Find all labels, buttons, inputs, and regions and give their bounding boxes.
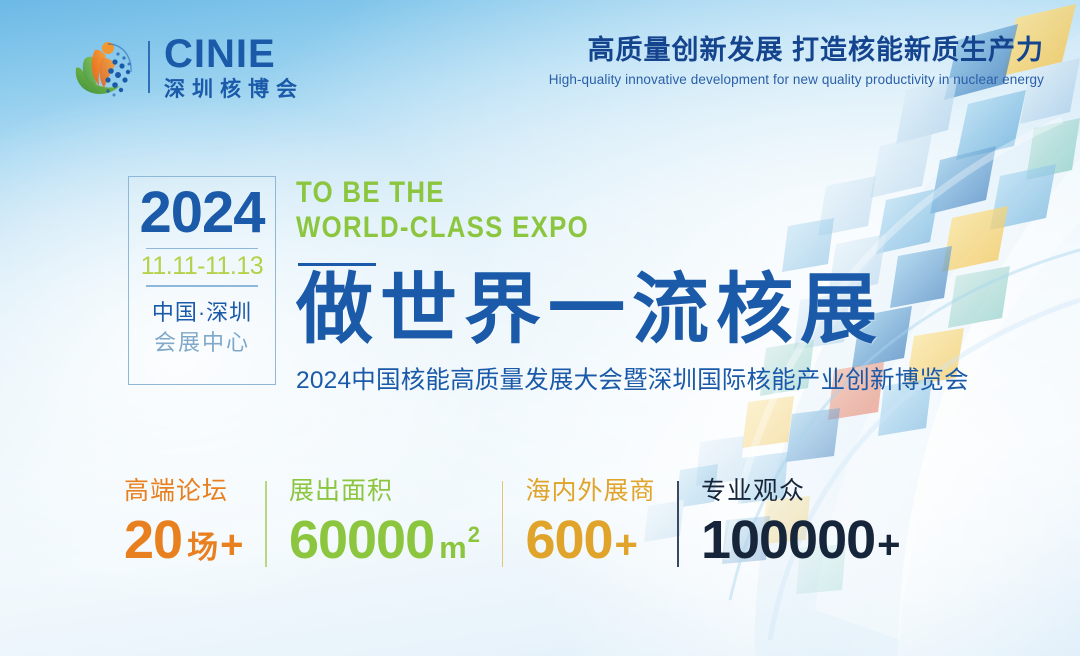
- stat-label: 海内外展商: [525, 478, 655, 506]
- slogan-block: 高质量创新发展 打造核能新质生产力 High-quality innovativ…: [549, 36, 1044, 87]
- stat-divider-3: [677, 481, 679, 567]
- stat-unit: m: [439, 532, 467, 563]
- cinie-emblem-icon: [68, 34, 134, 100]
- logo-divider: [148, 41, 150, 93]
- logo-brand-cn-text: 深圳核博会: [164, 79, 304, 100]
- stat-divider-1: [265, 481, 267, 567]
- datebox-rule-top: [146, 248, 258, 250]
- stat-number: 100000: [701, 513, 875, 567]
- event-date-box: 2024 11.11-11.13 中国·深圳 会展中心: [128, 176, 276, 385]
- event-venue: 会展中心: [154, 329, 250, 357]
- english-title-line2: WORLD-CLASS EXPO: [296, 210, 875, 245]
- logo-brand-text: CINIE: [164, 34, 304, 74]
- stat-number: 600: [525, 513, 612, 567]
- stat-plus: +: [220, 525, 243, 565]
- stat-label: 高端论坛: [124, 478, 243, 506]
- chinese-subtitle: 2024中国核能高质量发展大会暨深圳国际核能产业创新博览会: [296, 361, 969, 396]
- stats-row: 高端论坛 20 场 + 展出面积 60000 m 2 海内外展商 600 +: [124, 478, 901, 567]
- stat-unit: 场: [187, 532, 218, 563]
- stat-superscript: 2: [468, 524, 480, 546]
- stat-value: 20 场 +: [124, 513, 243, 567]
- stat-item-area: 展出面积 60000 m 2: [289, 478, 480, 567]
- event-year: 2024: [139, 183, 264, 244]
- slogan-chinese: 高质量创新发展 打造核能新质生产力: [549, 36, 1044, 66]
- title-rule: [298, 263, 376, 266]
- event-dates: 11.11-11.13: [141, 252, 263, 281]
- stat-item-exhibitors: 海内外展商 600 +: [525, 478, 655, 567]
- stat-value: 60000 m 2: [289, 513, 480, 567]
- english-title-line1: TO BE THE: [296, 175, 875, 210]
- stat-number: 60000: [289, 513, 434, 567]
- stat-number: 20: [124, 513, 182, 567]
- banner-header: CINIE 深圳核博会 高质量创新发展 打造核能新质生产力 High-quali…: [0, 0, 1080, 120]
- stat-item-forums: 高端论坛 20 场 +: [124, 478, 243, 567]
- main-title-block: TO BE THE WORLD-CLASS EXPO 做世界一流核展 2024中…: [296, 175, 969, 396]
- chinese-main-title: 做世界一流核展: [296, 270, 969, 352]
- stat-value: 600 +: [525, 513, 655, 567]
- stat-item-visitors: 专业观众 100000 +: [701, 478, 901, 567]
- datebox-rule-bottom: [146, 285, 258, 287]
- cinie-logo[interactable]: CINIE 深圳核博会: [68, 34, 304, 100]
- stat-label: 专业观众: [701, 478, 901, 506]
- stat-plus: +: [615, 525, 638, 565]
- logo-text: CINIE 深圳核博会: [164, 34, 304, 100]
- expo-banner: CINIE 深圳核博会 高质量创新发展 打造核能新质生产力 High-quali…: [0, 0, 1080, 656]
- stat-divider-2: [502, 481, 504, 567]
- slogan-english: High-quality innovative development for …: [549, 72, 1044, 87]
- stat-value: 100000 +: [701, 513, 901, 567]
- event-city: 中国·深圳: [152, 299, 252, 327]
- stat-label: 展出面积: [289, 478, 480, 506]
- stat-plus: +: [877, 525, 900, 565]
